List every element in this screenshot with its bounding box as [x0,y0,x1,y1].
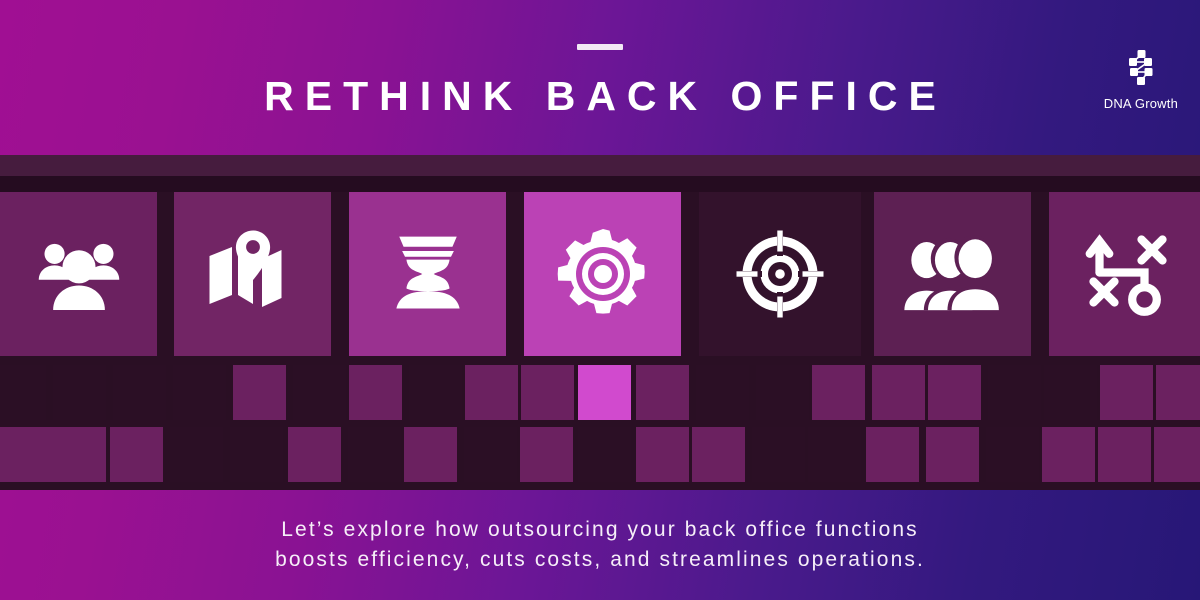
mosaic-cell [53,365,106,420]
mosaic-cell [1044,365,1097,420]
team-icon [903,224,1003,324]
mosaic-cell [110,427,163,482]
mosaic-cell [465,365,518,420]
caption-line-1: Let’s explore how outsourcing your back … [281,515,918,545]
mosaic-cell [53,427,106,482]
mosaic-cell [349,365,402,420]
banner-header: RETHINK BACK OFFICE [0,0,1200,155]
mosaic-cell [113,365,166,420]
mosaic-cell [866,427,919,482]
mosaic-cell [578,427,631,482]
mosaic-cell [1098,427,1151,482]
brand-name: DNA Growth [1104,96,1178,111]
mosaic-cell [404,427,457,482]
caption-line-2: boosts efficiency, cuts costs, and strea… [275,545,925,575]
mosaic-cell [692,427,745,482]
mosaic-panel [0,155,1200,490]
mosaic-cell [696,365,749,420]
tile-team[interactable] [874,192,1031,356]
tile-gear[interactable] [524,192,681,356]
mosaic-cell [288,427,341,482]
mosaic-cell [1156,365,1200,420]
mosaic-cell [173,365,226,420]
mosaic-cell [986,427,1039,482]
tile-target[interactable] [699,192,861,356]
mosaic-cell [521,365,574,420]
mosaic-cell [170,427,223,482]
brand-logo: DNA Growth [1104,48,1178,111]
panel-mid-band [0,176,1200,192]
tile-people-group[interactable] [0,192,157,356]
mosaic-cell [752,427,805,482]
mosaic-cell [520,427,573,482]
mosaic-cell [348,427,401,482]
mosaic-cell [233,365,286,420]
dna-network-logo-icon [1118,48,1164,90]
mosaic-cell [636,427,689,482]
hourglass-icon [382,228,474,320]
mosaic-cell [1042,427,1095,482]
mosaic-cell [808,427,861,482]
banner-caption: Let’s explore how outsourcing your back … [0,490,1200,600]
tile-hourglass[interactable] [349,192,506,356]
target-icon [732,226,828,322]
promo-banner: RETHINK BACK OFFICE DNA Growth [0,0,1200,600]
mosaic-cell [756,365,809,420]
mosaic-cell [293,365,346,420]
mosaic-cell [1154,427,1200,482]
mosaic-cell [409,365,462,420]
mosaic-cell [0,365,46,420]
icon-tile-row [0,192,1200,356]
gear-icon [555,226,651,322]
mosaic-cell [636,365,689,420]
page-title: RETHINK BACK OFFICE [253,76,947,117]
mosaic-cell [230,427,283,482]
strategy-icon [1080,226,1176,322]
tile-strategy[interactable] [1049,192,1200,356]
mosaic-cell [1100,365,1153,420]
mosaic-cell [988,365,1041,420]
mosaic-cell [464,427,517,482]
tile-map-location[interactable] [174,192,331,356]
title-divider-dash [577,44,623,50]
map-pin-icon [205,226,301,322]
mosaic-cell [928,365,981,420]
mosaic-cell [872,365,925,420]
mosaic-cell [0,427,53,482]
mosaic-cell [812,365,865,420]
mosaic-cell [578,365,631,420]
people-group-icon [33,228,125,320]
panel-top-band [0,155,1200,176]
mosaic-cell [926,427,979,482]
mosaic-grid [0,365,1200,490]
